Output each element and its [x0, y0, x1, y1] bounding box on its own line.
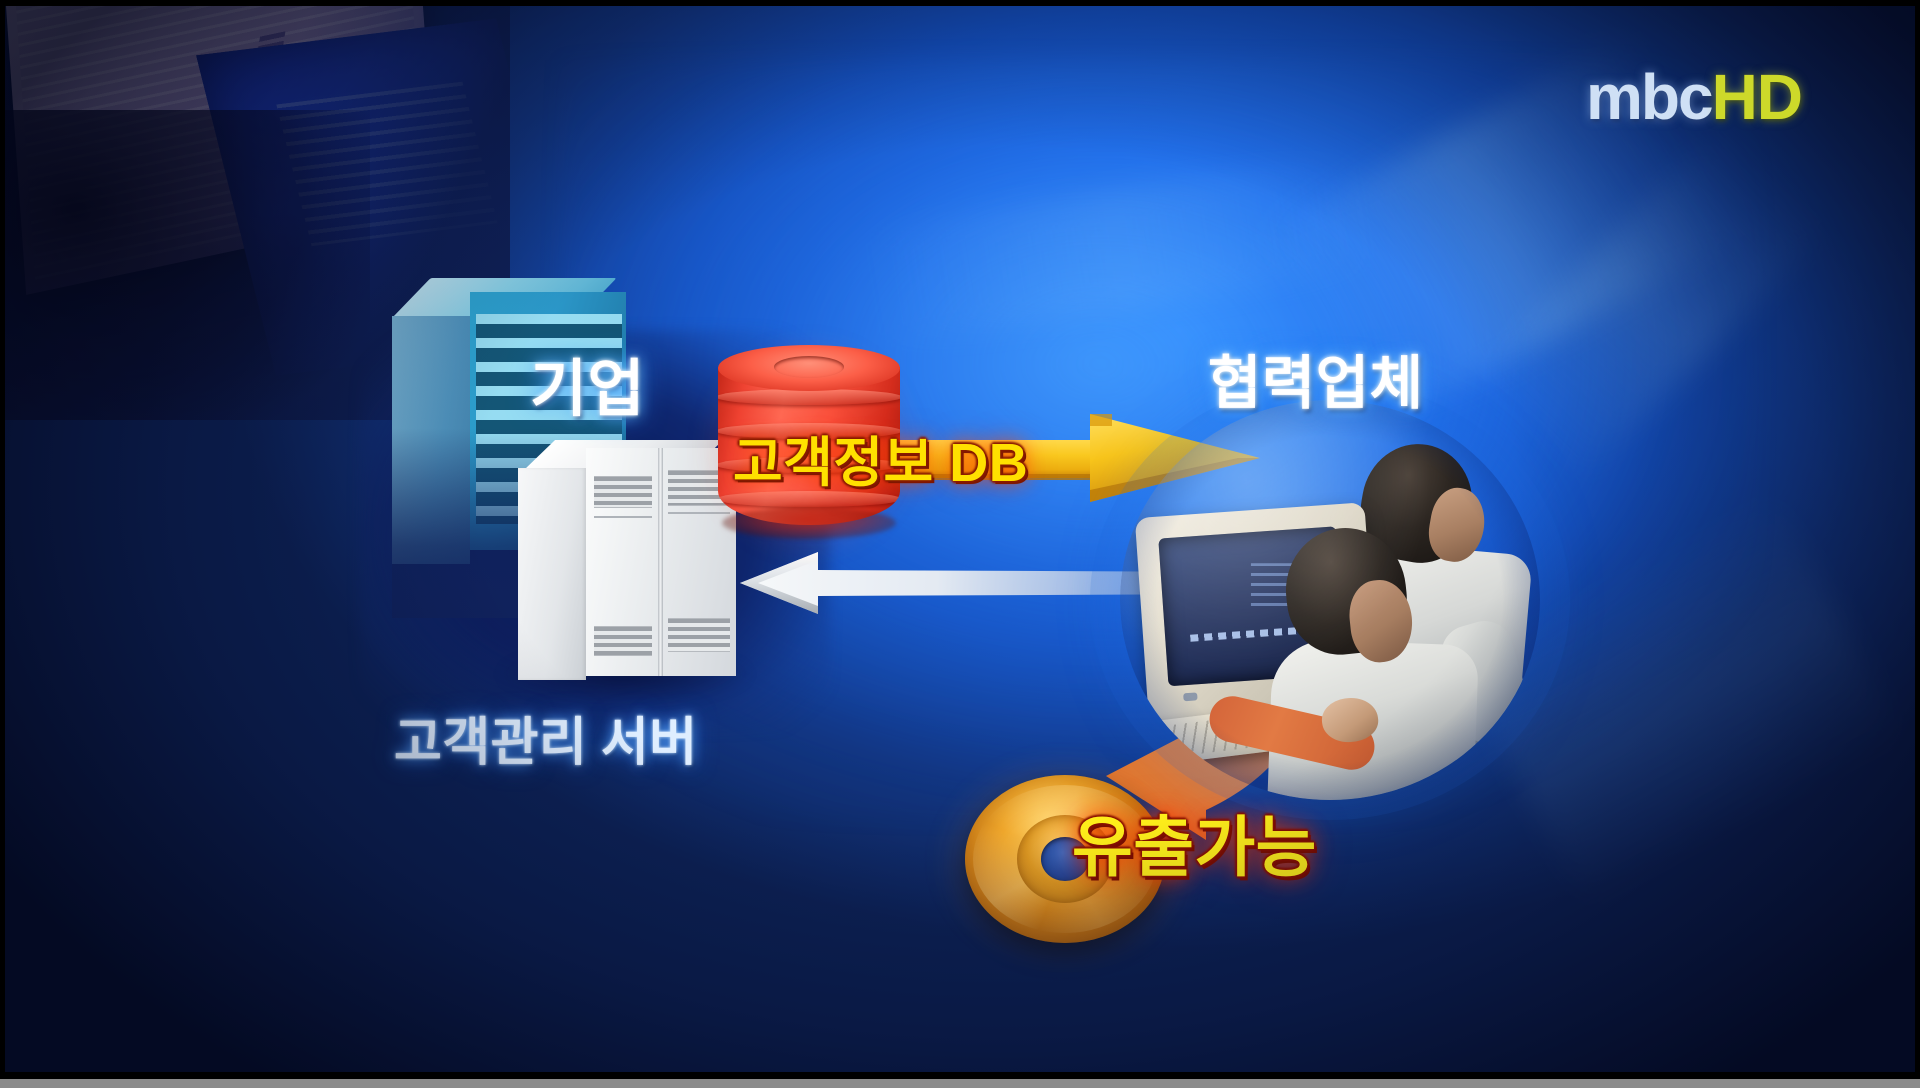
letterbox-top — [0, 0, 1920, 6]
bottom-gray-strip — [0, 1079, 1920, 1088]
logo-mbc-text: mbc — [1586, 60, 1712, 134]
channel-logo: mbc HD — [1586, 60, 1802, 134]
broadcast-graphic-stage: 기업 고객관리 서버 고객정보 DB 협력업체 유출가능 mbc HD — [0, 0, 1920, 1088]
letterbox-right — [1915, 0, 1920, 1088]
vignette — [0, 0, 1920, 1088]
letterbox-left — [0, 0, 5, 1088]
logo-hd-text: HD — [1712, 60, 1802, 134]
